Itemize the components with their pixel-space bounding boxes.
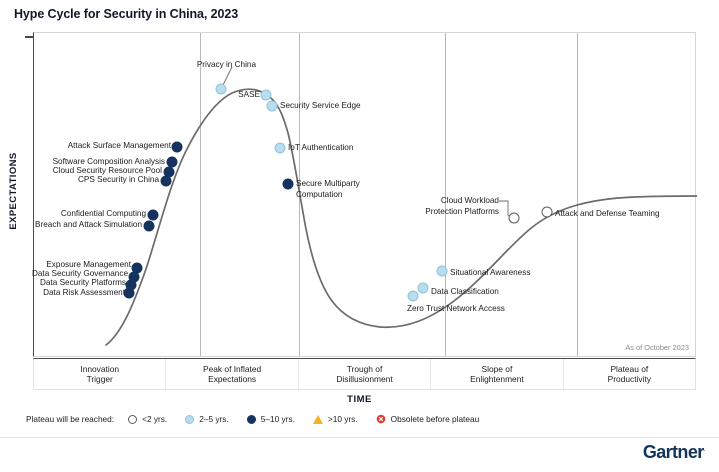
circle-navy-icon [247, 415, 256, 424]
point-dot-data-classification[interactable] [418, 283, 429, 294]
legend-label: Obsolete before plateau [391, 414, 480, 424]
point-label-exposure-management: Exposure Management [46, 260, 131, 271]
legend-item-2-5-yrs[interactable]: 2–5 yrs. [185, 414, 229, 424]
point-label-software-composition-analysis: Software Composition Analysis [53, 157, 165, 168]
point-dot-zero-trust-network-access[interactable] [408, 291, 419, 302]
point-label-privacy-in-china: Privacy in China [197, 60, 256, 71]
phase-line-1: Innovation [80, 364, 119, 375]
footer-divider [0, 437, 719, 438]
point-label-data-security-governance: Data Security Governance [32, 269, 128, 280]
phase-line-1: Trough of [347, 364, 383, 375]
point-label-zero-trust-network-access: Zero Trust Network Access [407, 304, 505, 315]
phase-line-2: Trigger [87, 374, 113, 385]
point-dot-secure-multiparty-computation[interactable] [283, 179, 294, 190]
legend-label: 5–10 yrs. [261, 414, 295, 424]
x-axis-label: TIME [0, 394, 719, 405]
point-label-data-classification: Data Classification [431, 287, 499, 298]
y-axis-label: EXPECTATIONS [8, 136, 19, 246]
point-label-attack-and-defense-teaming: Attack and Defense Teaming [555, 209, 660, 220]
legend: Plateau will be reached: <2 yrs. 2–5 yrs… [26, 414, 497, 424]
legend-item-gt10-yrs[interactable]: >10 yrs. [313, 414, 358, 424]
point-label-data-security-platforms: Data Security Platforms [40, 278, 126, 289]
point-dot-cloud-security-resource-pool[interactable] [164, 167, 175, 178]
point-dot-breach-and-attack-simulation[interactable] [144, 221, 155, 232]
point-dot-confidential-computing[interactable] [148, 210, 159, 221]
phase-line-2: Expectations [208, 374, 256, 385]
point-label-situational-awareness: Situational Awareness [450, 268, 530, 279]
legend-label: <2 yrs. [142, 414, 167, 424]
point-label-cloud-workload-protection-platforms: Cloud Workload Protection Platforms [425, 196, 499, 217]
point-label-attack-surface-management: Attack Surface Management [68, 141, 171, 152]
point-dot-attack-surface-management[interactable] [172, 142, 183, 153]
circle-x-icon [376, 414, 386, 424]
point-label-data-risk-assessment: Data Risk Assessment [43, 288, 125, 299]
legend-item-obsolete-before-plateau[interactable]: Obsolete before plateau [376, 414, 480, 424]
point-label-iot-authentication: IoT Authentication [288, 143, 353, 154]
point-dot-cloud-workload-protection-platforms[interactable] [509, 213, 520, 224]
phase-line-1: Peak of Inflated [203, 364, 261, 375]
phase-line-2: Disillusionment [336, 374, 392, 385]
circle-lightblue-icon [185, 415, 194, 424]
point-label-cloud-security-resource-pool: Cloud Security Resource Pool [53, 166, 162, 177]
point-label-sase: SASE [238, 90, 260, 101]
phase-trough-of-disillusionment: Trough of Disillusionment [299, 359, 431, 389]
point-dot-privacy-in-china[interactable] [216, 84, 227, 95]
page-title: Hype Cycle for Security in China, 2023 [14, 7, 238, 21]
registered-mark: . [704, 446, 705, 453]
point-dot-sase[interactable] [261, 90, 272, 101]
legend-item-5-10-yrs[interactable]: 5–10 yrs. [247, 414, 295, 424]
gartner-logo: Gartner. [643, 442, 705, 463]
point-label-cps-security-in-china: CPS Security in China [78, 175, 159, 186]
legend-label: 2–5 yrs. [199, 414, 229, 424]
point-dot-security-service-edge[interactable] [267, 101, 278, 112]
phase-axis: Innovation Trigger Peak of Inflated Expe… [33, 358, 696, 390]
phase-peak-of-inflated-expectations: Peak of Inflated Expectations [166, 359, 298, 389]
point-label-confidential-computing: Confidential Computing [61, 209, 146, 220]
as-of-note: As of October 2023 [625, 343, 689, 352]
phase-line-1: Slope of [482, 364, 513, 375]
point-label-breach-and-attack-simulation: Breach and Attack Simulation [35, 220, 142, 231]
phase-line-1: Plateau of [610, 364, 648, 375]
triangle-icon [313, 415, 323, 424]
legend-label: >10 yrs. [328, 414, 358, 424]
phase-innovation-trigger: Innovation Trigger [34, 359, 166, 389]
point-label-secure-multiparty-computation: Secure Multiparty Computation [296, 179, 360, 200]
phase-plateau-of-productivity: Plateau of Productivity [564, 359, 695, 389]
leader-line-cloud-workload [34, 33, 697, 358]
point-dot-situational-awareness[interactable] [437, 266, 448, 277]
hype-cycle-plot: Data Risk Assessment Data Security Platf… [33, 32, 696, 357]
point-dot-attack-and-defense-teaming[interactable] [542, 207, 553, 218]
phase-slope-of-enlightenment: Slope of Enlightenment [431, 359, 563, 389]
y-axis-tick [25, 36, 33, 38]
gartner-logo-text: Gartner [643, 442, 704, 462]
point-label-security-service-edge: Security Service Edge [280, 101, 361, 112]
phase-line-2: Enlightenment [470, 374, 524, 385]
point-dot-iot-authentication[interactable] [275, 143, 286, 154]
legend-title: Plateau will be reached: [26, 414, 114, 424]
phase-line-2: Productivity [608, 374, 651, 385]
point-dot-exposure-management[interactable] [132, 263, 143, 274]
circle-outline-icon [128, 415, 137, 424]
point-dot-software-composition-analysis[interactable] [167, 157, 178, 168]
legend-item-lt2-yrs[interactable]: <2 yrs. [128, 414, 167, 424]
